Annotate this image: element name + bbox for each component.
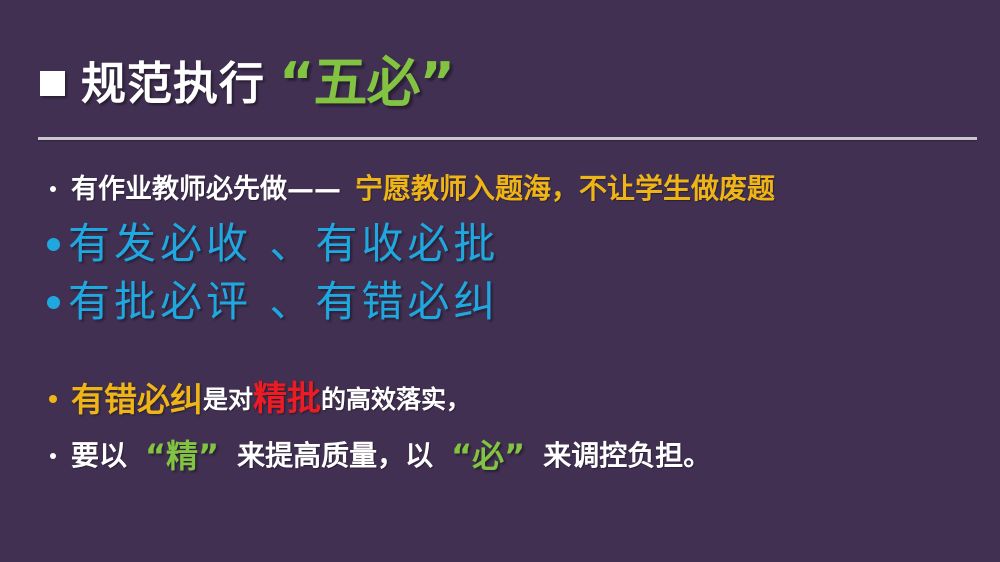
bullet-dot-icon	[49, 395, 57, 403]
list-item: 要以 “精” 来提高质量，以 “必” 来调控负担。	[40, 427, 980, 485]
list-item: 有批必评 、有错必纠	[40, 273, 980, 331]
bullet-5-segment-1: 要以	[71, 442, 127, 470]
bullet-5-segment-4: “必”	[451, 440, 525, 472]
title-divider	[38, 137, 977, 140]
bullet-dot-icon	[50, 186, 56, 192]
list-spacer	[40, 331, 980, 371]
bullet-4-segment-4: 的高效落实，	[321, 387, 471, 412]
square-bullet-icon	[40, 71, 65, 96]
bullet-5-segment-3: 来提高质量，以	[237, 442, 433, 470]
slide-canvas: 规范执行 “五必” 有作业教师必先做—— 宁愿教师入题海，不让学生做废题 有发必…	[0, 0, 1000, 562]
bullet-1-segment-2: 宁愿教师入题海，不让学生做废题	[355, 175, 775, 203]
list-item: 有错必纠 是对 精批 的高效落实，	[40, 371, 980, 427]
bullet-4-segment-2: 是对	[203, 387, 253, 412]
bullet-5-segment-5: 来调控负担。	[543, 442, 711, 470]
bullet-3-segment-1: 有批必评 、有错必纠	[68, 281, 499, 323]
bullet-4-segment-1: 有错必纠	[71, 383, 203, 416]
title-accent-text: “五必”	[279, 56, 454, 110]
bullet-5-segment-2: “精”	[145, 440, 219, 472]
bullet-dot-icon	[47, 296, 60, 309]
title-main-text: 规范执行	[81, 61, 265, 106]
bullet-2-segment-1: 有发必收 、有收必批	[68, 223, 499, 265]
list-item: 有发必收 、有收必批	[40, 215, 980, 273]
bullet-1-segment-1: 有作业教师必先做——	[71, 176, 341, 203]
bullet-dot-icon	[50, 453, 56, 459]
bullet-4-segment-3: 精批	[253, 382, 321, 416]
slide-title: 规范执行 “五必”	[40, 56, 454, 110]
list-item: 有作业教师必先做—— 宁愿教师入题海，不让学生做废题	[40, 163, 980, 215]
bullet-list: 有作业教师必先做—— 宁愿教师入题海，不让学生做废题 有发必收 、有收必批 有批…	[40, 163, 980, 485]
bullet-dot-icon	[47, 238, 60, 251]
